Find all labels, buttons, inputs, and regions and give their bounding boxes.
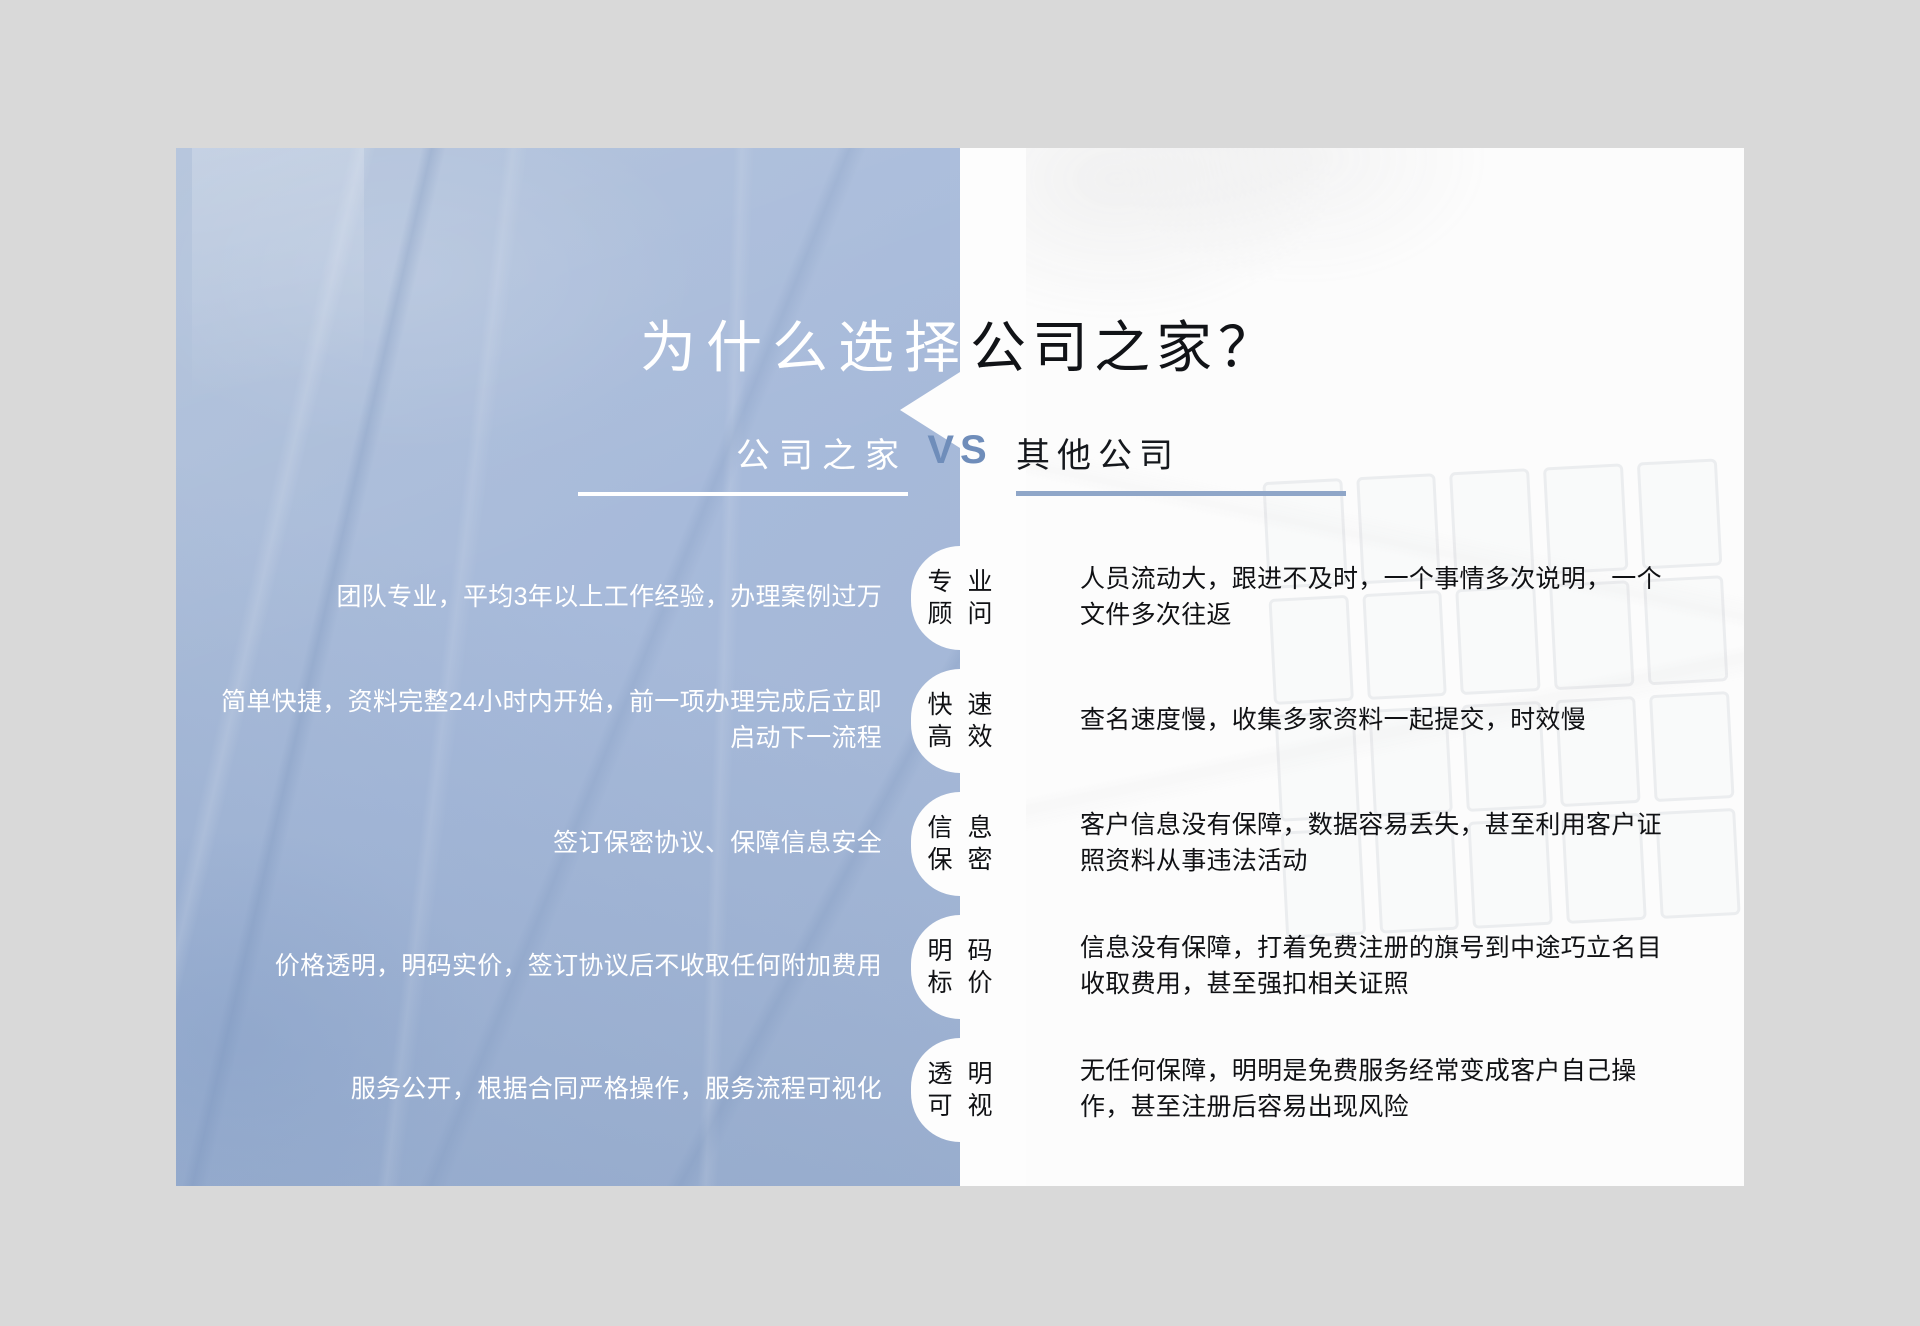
comparison-rows: 团队专业，平均3年以上工作经验，办理案例过万 专 业 顾 问 人员流动大，跟进不… xyxy=(176,536,1744,1151)
row-category-pill: 透 明 可 视 xyxy=(911,1038,1009,1142)
row-left-text: 签订保密协议、保障信息安全 xyxy=(176,826,960,862)
comparison-card: 为什么选择公司之家？ 公司之家 其他公司 VS 团队专业，平均3年以上工作经验，… xyxy=(176,148,1744,1186)
pill-line-2: 标 价 xyxy=(924,967,997,999)
row-right-text: 信息没有保障，打着免费注册的旗号到中途巧立名目收取费用，甚至强扣相关证照 xyxy=(960,931,1744,1002)
header-left-column: 公司之家 xyxy=(176,434,960,496)
comparison-header: 公司之家 其他公司 VS xyxy=(176,420,1744,510)
table-row: 价格透明，明码实价，签订协议后不收取任何附加费用 明 码 标 价 信息没有保障，… xyxy=(176,905,1744,1028)
row-category-pill: 专 业 顾 问 xyxy=(911,546,1009,650)
page-root: 为什么选择公司之家？ 公司之家 其他公司 VS 团队专业，平均3年以上工作经验，… xyxy=(0,0,1920,1326)
title-segment-blue: 为什么选择 xyxy=(640,316,970,379)
row-right-text: 客户信息没有保障，数据容易丢失，甚至利用客户证照资料从事违法活动 xyxy=(960,808,1744,879)
pill-line-2: 顾 问 xyxy=(924,598,997,630)
pill-line-1: 快 速 xyxy=(924,689,997,721)
row-category-pill: 明 码 标 价 xyxy=(911,915,1009,1019)
row-category-pill: 信 息 保 密 xyxy=(911,792,1009,896)
pill-line-2: 保 密 xyxy=(924,844,997,876)
pill-line-1: 透 明 xyxy=(924,1058,997,1090)
row-right-text: 查名速度慢，收集多家资料一起提交，时效慢 xyxy=(960,703,1744,739)
table-row: 签订保密协议、保障信息安全 信 息 保 密 客户信息没有保障，数据容易丢失，甚至… xyxy=(176,782,1744,905)
row-left-text: 价格透明，明码实价，签订协议后不收取任何附加费用 xyxy=(176,949,960,985)
pill-line-2: 高 效 xyxy=(924,721,997,753)
header-right-column: 其他公司 xyxy=(960,434,1744,497)
table-row: 简单快捷，资料完整24小时内开始，前一项办理完成后立即启动下一流程 快 速 高 … xyxy=(176,659,1744,782)
header-left-label: 公司之家 xyxy=(578,434,908,496)
row-left-text: 团队专业，平均3年以上工作经验，办理案例过万 xyxy=(176,580,960,616)
row-right-text: 无任何保障，明明是免费服务经常变成客户自己操作，甚至注册后容易出现风险 xyxy=(960,1054,1744,1125)
row-left-text: 服务公开，根据合同严格操作，服务流程可视化 xyxy=(176,1072,960,1108)
page-title: 为什么选择公司之家？ xyxy=(176,320,1744,376)
title-segment-white: 公司之家？ xyxy=(970,316,1280,379)
vs-badge: VS xyxy=(927,428,992,473)
pill-line-1: 明 码 xyxy=(924,935,997,967)
pill-line-1: 专 业 xyxy=(924,566,997,598)
pill-line-1: 信 息 xyxy=(924,812,997,844)
row-category-pill: 快 速 高 效 xyxy=(911,669,1009,773)
header-right-label: 其他公司 xyxy=(1016,434,1346,497)
table-row: 服务公开，根据合同严格操作，服务流程可视化 透 明 可 视 无任何保障，明明是免… xyxy=(176,1028,1744,1151)
pill-line-2: 可 视 xyxy=(924,1090,997,1122)
row-left-text: 简单快捷，资料完整24小时内开始，前一项办理完成后立即启动下一流程 xyxy=(176,685,960,756)
table-row: 团队专业，平均3年以上工作经验，办理案例过万 专 业 顾 问 人员流动大，跟进不… xyxy=(176,536,1744,659)
row-right-text: 人员流动大，跟进不及时，一个事情多次说明，一个文件多次往返 xyxy=(960,562,1744,633)
